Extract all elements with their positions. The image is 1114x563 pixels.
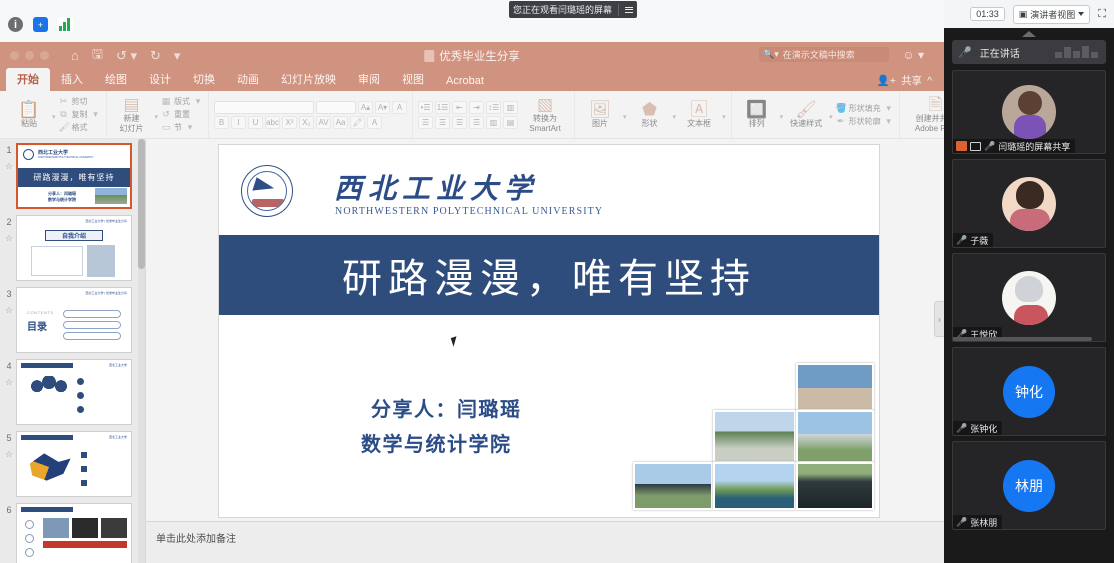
participant-name-bar: 🎤 子薇 [953,233,993,247]
layout-icon: ▦ [161,96,171,107]
section-dropdown-icon[interactable]: ▾ [185,122,195,133]
screen-share-icon [956,141,967,151]
campus-photo-collage [659,363,874,511]
search-input[interactable]: 🔍▾ 在演示文稿中搜索 [759,47,889,62]
format-painter-button[interactable]: 🖌格式 [59,122,101,133]
italic-button[interactable]: I [231,116,246,129]
sharing-tooltip-label: 您正在观看闫璐瑶的屏幕 [513,3,612,16]
slide-title: 研路漫漫，唯有坚持 [342,246,756,304]
participant-name: 子薇 [970,234,988,247]
feedback-icon[interactable]: ☺ ▾ [902,48,924,62]
thumbnail-number: 1 ☆ [2,143,16,172]
view-mode-button[interactable]: ▣ 演讲者视图 [1013,5,1091,24]
screen-sharing-tooltip: 您正在观看闫璐瑶的屏幕 [509,1,637,18]
paragraph-controls: •☰ 1☰ ⇤ ⇥ ↕☰ ▥ ☰ ☰ ☰ ☰ ▥ ▤ [418,101,518,129]
fullscreen-icon[interactable]: ⛶ [1098,8,1106,21]
document-title: 优秀毕业生分享 [439,48,520,64]
justify-button[interactable]: ☰ [469,116,484,129]
strikethrough-button[interactable]: abc [265,116,280,129]
arrange-label: 排列 [749,119,765,128]
current-slide[interactable]: 西北工业大学 NORTHWESTERN POLYTECHNICAL UNIVER… [219,145,879,517]
align-right-button[interactable]: ☰ [452,116,467,129]
screen-root: i + 您正在观看闫璐瑶的屏幕 ⌂ 🖫 ↺ ▾ ↻ ▾ [0,0,1114,563]
share-label: 共享 [901,73,922,88]
avatar-initials: 林朋 [1003,460,1055,512]
outline-icon: ✒ [836,116,846,127]
cut-button[interactable]: ✂剪切 [59,96,101,107]
zoom-panel: 01:33 ▣ 演讲者视图 ⛶ 🎤 正在讲话 🎤 闫璐瑶的屏幕共享 [944,0,1114,563]
picture-icon: 🖼 [589,101,611,119]
panel-resize-handle[interactable] [944,28,1114,40]
convert-to-smartart-button[interactable]: ▧ 转换为 SmartArt [521,96,569,132]
audio-waveform-icon [1055,46,1098,58]
tab-acrobat[interactable]: Acrobat [435,72,495,91]
thumbnail-preview-4[interactable]: 西北工业大学 [16,359,132,425]
participant-name-bar: 🎤 闫璐瑶的屏幕共享 [953,139,1075,153]
section-icon: ▭ [161,122,171,133]
tab-transitions[interactable]: 切换 [182,68,226,91]
participant-name: 闫璐瑶的屏幕共享 [998,140,1070,153]
increase-indent-button[interactable]: ⇥ [469,101,484,114]
layout-dropdown-icon[interactable]: ▾ [193,96,203,107]
font-size-select[interactable] [316,101,356,114]
reset-button[interactable]: ↺重置 [161,109,203,120]
increase-font-size-button[interactable]: A▴ [358,101,373,114]
scissors-icon: ✂ [59,96,69,107]
ribbon-group-clipboard: 📋 粘贴 ▾ ✂剪切 ⧉复制▾ 🖌格式 [4,91,107,138]
bold-button[interactable]: B [214,116,229,129]
participant-tile-2[interactable]: 🎤 子薇 [952,159,1106,248]
new-slide-label-1: 新建 [124,114,140,123]
save-icon[interactable]: 🖫 [92,45,103,67]
character-spacing-button[interactable]: AV [316,116,331,129]
layout-button[interactable]: ▦版式▾ [161,96,203,107]
layout-label: 版式 [174,96,190,107]
shape-button[interactable]: ⬟ 形状 [630,101,670,128]
tab-home[interactable]: 开始 [6,68,50,91]
arrange-button[interactable]: 🔲 排列 [737,101,777,128]
thumbnail-number-label: 2 [6,217,11,227]
text-direction-button[interactable]: ▥ [503,101,518,114]
avatar [1002,271,1056,325]
arrange-icon: 🔲 [746,101,767,119]
thumbnail-number-label: 5 [6,433,11,443]
font-row-2: B I U abc X² X₂ AV Aa 🖍 A [214,116,407,129]
active-speaker-label: 正在讲话 [980,45,1020,60]
thumbnail-number: 6 [2,503,16,515]
active-speaker-bar: 🎤 正在讲话 [952,40,1106,64]
info-icon[interactable]: i [8,17,23,32]
slide-presenter-block: 分享人：闫璐瑶 数学与统计学院 [371,393,522,463]
campus-photo-3 [796,410,874,463]
thumbnail-item-6[interactable]: 6 [0,503,145,563]
clipboard-icon: 📋 [18,101,39,119]
participant-tile-1[interactable]: 🎤 闫璐瑶的屏幕共享 [952,70,1106,154]
menu-icon[interactable] [625,7,633,13]
smartart-label-1: 转换为 [533,114,557,123]
shape-outline-dropdown-icon[interactable]: ▾ [884,116,894,127]
slide-stage: 西北工业大学 NORTHWESTERN POLYTECHNICAL UNIVER… [146,139,944,563]
chevron-down-icon [1078,12,1084,16]
tab-insert[interactable]: 插入 [50,68,94,91]
notes-placeholder: 单击此处添加备注 [156,534,236,545]
redo-icon[interactable]: ↻ [150,48,161,64]
decrease-indent-button[interactable]: ⇤ [452,101,467,114]
ribbon-group-font: A▴ A▾ A B I U abc X² X₂ AV Aa 🖍 A [209,91,413,138]
window-controls[interactable] [10,51,49,60]
section-button[interactable]: ▭节▾ [161,122,203,133]
quick-styles-label: 快速样式 [790,119,822,128]
paragraph-row-2: ☰ ☰ ☰ ☰ ▥ ▤ [418,116,518,129]
paste-dropdown-icon[interactable]: ▾ [52,113,56,121]
university-logo-icon [241,165,293,217]
participant-name-bar: 🎤 张林朋 [953,515,1002,529]
tab-animations[interactable]: 动画 [226,68,270,91]
quick-styles-button[interactable]: 🖌 快速样式 [786,101,826,128]
arrange-dropdown-icon[interactable]: ▾ [780,113,784,121]
tab-review[interactable]: 审阅 [347,68,391,91]
shape-dropdown-icon[interactable]: ▾ [673,113,677,121]
textbox-icon: 🄰 [691,101,708,119]
star-icon: ☆ [2,305,16,316]
textbox-label: 文本框 [687,119,711,128]
shape-fill-label: 形状填充 [849,103,881,114]
columns-button[interactable]: ▥ [486,116,501,129]
presenter-department: 数学与统计学院 [361,428,522,463]
mic-muted-icon: 🎤 [956,517,967,528]
font-family-select[interactable] [214,101,314,114]
tab-draw[interactable]: 绘图 [94,68,138,91]
new-slide-dropdown-icon[interactable]: ▾ [155,113,159,121]
home-icon[interactable]: ⌂ [71,48,79,63]
quick-styles-dropdown-icon[interactable]: ▾ [829,113,833,121]
thumbnail-item-5[interactable]: 5 ☆ 西北工业大学 [0,431,145,497]
ribbon: 📋 粘贴 ▾ ✂剪切 ⧉复制▾ 🖌格式 ▤ 新建 幻灯片 ▾ ▦版 [0,91,944,139]
share-icon: 👤+ [877,74,896,87]
reset-label: 重置 [174,109,190,120]
slide-thumbnail-panel[interactable]: 1 ☆ 西北工业大学 NORTHWESTERN POLYTECHNICAL UN… [0,139,146,563]
close-button[interactable] [10,51,19,60]
pdf-icon: 🗎 [929,96,943,114]
align-center-button[interactable]: ☰ [435,116,450,129]
new-slide-icon: ▤ [123,96,139,114]
change-case-button[interactable]: Aa [333,116,348,129]
star-icon: ☆ [2,449,16,460]
brush-icon: 🖌 [59,122,69,133]
ribbon-group-slides: ▤ 新建 幻灯片 ▾ ▦版式▾ ↺重置 ▭节▾ [107,91,210,138]
clipboard-small-commands: ✂剪切 ⧉复制▾ 🖌格式 [59,96,101,133]
shape-format-commands: 🪣形状填充▾ ✒形状轮廓▾ [836,103,894,127]
participant-tile-3[interactable]: 🎤 王悦欣 [952,253,1106,342]
mic-muted-icon: 🎤 [956,235,967,246]
presenter-name: 分享人：闫璐瑶 [371,393,522,428]
superscript-button[interactable]: X² [282,116,297,129]
slides-small-commands: ▦版式▾ ↺重置 ▭节▾ [161,96,203,133]
view-mode-icon: ▣ [1019,9,1028,20]
shape-fill-button[interactable]: 🪣形状填充▾ [836,103,894,114]
share-button[interactable]: 👤+ 共享 ^ [877,73,932,88]
textbox-dropdown-icon[interactable]: ▾ [722,113,726,121]
participant-name-bar: 🎤 张钟化 [953,421,1002,435]
campus-photo-2 [713,410,796,463]
ribbon-tabs[interactable]: 开始 插入 绘图 设计 切换 动画 幻灯片放映 审阅 视图 Acrobat 👤+… [0,69,944,91]
shape-outline-button[interactable]: ✒形状轮廓▾ [836,116,894,127]
avatar [1002,85,1056,139]
reset-icon: ↺ [161,109,171,120]
thumbnail-item-1[interactable]: 1 ☆ 西北工业大学 NORTHWESTERN POLYTECHNICAL UN… [0,143,145,209]
text-highlight-button[interactable]: 🖍 [350,116,365,129]
university-name-en: NORTHWESTERN POLYTECHNICAL UNIVERSITY [335,206,603,217]
thumbnail-item-4[interactable]: 4 ☆ 西北工业大学 [0,359,145,425]
thumbnail-number-label: 3 [6,289,11,299]
font-row-1: A▴ A▾ A [214,101,407,114]
powerpoint-window: ⌂ 🖫 ↺ ▾ ↻ ▾ 优秀毕业生分享 🔍▾ 在演示文稿中搜索 ☺ ▾ 开始 插… [0,42,944,563]
star-icon: ☆ [2,377,16,388]
avatar-initials: 钟化 [1003,366,1055,418]
copy-icon: ⧉ [59,109,69,120]
ribbon-group-drawing: 🔲 排列 ▾ 🖌 快速样式 ▾ 🪣形状填充▾ ✒形状轮廓▾ [732,91,900,138]
search-icon: 🔍▾ [763,49,779,60]
document-icon [424,50,434,62]
view-mode-label: 演讲者视图 [1030,8,1075,21]
bullets-button[interactable]: •☰ [418,101,433,114]
thumbnail-scrollbar-track[interactable] [138,139,145,563]
participant-tile-4[interactable]: 钟化 🎤 张钟化 [952,347,1106,436]
extension-icon-group: i + [8,17,73,32]
ribbon-group-insert: 🖼 图片 ▾ ⬟ 形状 ▾ 🄰 文本框 ▾ [575,91,732,138]
thumbnail-preview-1[interactable]: 西北工业大学 NORTHWESTERN POLYTECHNICAL UNIVER… [16,143,132,209]
decrease-font-size-button[interactable]: A▾ [375,101,390,114]
star-icon: ☆ [2,161,16,172]
tooltip-divider [618,4,619,16]
browser-top-strip: i + 您正在观看闫璐瑶的屏幕 [0,0,944,42]
picture-button[interactable]: 🖼 图片 [580,101,620,128]
copy-dropdown-icon[interactable]: ▾ [91,109,101,120]
thumbnail-number-label: 4 [6,361,11,371]
slide-title-banner: 研路漫漫，唯有坚持 [219,235,879,315]
textbox-button[interactable]: 🄰 文本框 [679,101,719,128]
new-slide-label-2: 幻灯片 [120,124,144,133]
avatar [1002,177,1056,231]
font-color-button[interactable]: A [367,116,382,129]
powerpoint-titlebar: ⌂ 🖫 ↺ ▾ ↻ ▾ 优秀毕业生分享 🔍▾ 在演示文稿中搜索 ☺ ▾ [0,42,944,69]
bars-icon[interactable] [58,17,73,32]
slide-header: 西北工业大学 NORTHWESTERN POLYTECHNICAL UNIVER… [219,145,879,230]
smartart-icon: ▧ [537,96,553,114]
campus-photo-1 [796,363,874,411]
shape-fill-dropdown-icon[interactable]: ▾ [884,103,894,114]
thumbnail-scrollbar-thumb[interactable] [138,139,145,269]
campus-photo-6 [796,462,874,510]
campus-photo-4 [633,462,713,510]
search-placeholder: 在演示文稿中搜索 [783,48,855,61]
copy-button[interactable]: ⧉复制▾ [59,109,101,120]
line-spacing-button[interactable]: ↕☰ [486,101,501,114]
thumbnail-item-2[interactable]: 2 ☆ 西北工业大学 | 优秀毕业生分享 自我介绍 [0,215,145,281]
copy-label: 复制 [72,109,88,120]
tab-view[interactable]: 视图 [391,68,435,91]
document-title-group: 优秀毕业生分享 [424,48,520,64]
shape-outline-label: 形状轮廓 [849,116,881,127]
collapse-ribbon-icon[interactable]: ^ [927,75,932,87]
mic-muted-icon: 🎤 [958,46,972,59]
thumbnail-preview-3[interactable]: 西北工业大学 | 优秀毕业生分享 CONTENTS 目录 [16,287,132,353]
chevron-up-icon [1022,31,1036,37]
fill-icon: 🪣 [836,103,846,114]
quick-access-toolbar[interactable]: ⌂ 🖫 ↺ ▾ ↻ ▾ [71,45,180,67]
format-label: 格式 [72,122,88,133]
tab-slideshow[interactable]: 幻灯片放映 [270,68,347,91]
thumbnail-number: 5 ☆ [2,431,16,460]
picture-dropdown-icon[interactable]: ▾ [623,113,627,121]
thumbnail-number: 3 ☆ [2,287,16,316]
panel-collapse-handle[interactable]: › [934,301,944,337]
shapes-icon: ⬟ [642,101,657,119]
powerpoint-body: 1 ☆ 西北工业大学 NORTHWESTERN POLYTECHNICAL UN… [0,139,944,563]
paragraph-row-1: •☰ 1☰ ⇤ ⇥ ↕☰ ▥ [418,101,518,114]
participant-name: 张林朋 [970,516,997,529]
thumbnail-number: 2 ☆ [2,215,16,244]
thumbnail-item-3[interactable]: 3 ☆ 西北工业大学 | 优秀毕业生分享 CONTENTS 目录 [0,287,145,353]
smartart-label-2: SmartArt [529,124,561,133]
paste-label: 粘贴 [21,119,37,128]
zoom-toolbar: 01:33 ▣ 演讲者视图 ⛶ [944,0,1114,28]
tile-scrollbar[interactable] [952,337,1104,341]
thumbnail-number-label: 6 [6,505,11,515]
thumbnail-preview-2[interactable]: 西北工业大学 | 优秀毕业生分享 自我介绍 [16,215,132,281]
shield-icon[interactable]: + [33,17,48,32]
thumbnail-number-label: 1 [6,145,11,155]
thumbnail-preview-5[interactable]: 西北工业大学 [16,431,132,497]
thumbnail-preview-6[interactable] [16,503,132,563]
underline-button[interactable]: U [248,116,263,129]
star-icon: ☆ [2,233,16,244]
participant-tile-5[interactable]: 林朋 🎤 张林朋 [952,441,1106,530]
mic-muted-icon: 🎤 [956,423,967,434]
cut-label: 剪切 [72,96,88,107]
new-slide-button[interactable]: ▤ 新建 幻灯片 [112,96,152,132]
minimize-button[interactable] [25,51,34,60]
picture-label: 图片 [592,119,608,128]
university-name-cn: 西北工业大学 [334,167,538,207]
undo-icon[interactable]: ↺ ▾ [116,48,137,64]
subscript-button[interactable]: X₂ [299,116,314,129]
maximize-button[interactable] [40,51,49,60]
numbering-button[interactable]: 1☰ [435,101,450,114]
paste-button[interactable]: 📋 粘贴 [9,101,49,128]
quick-styles-icon: 🖌 [795,101,817,119]
campus-photo-5 [713,462,796,510]
more-icon[interactable]: ▾ [174,48,181,64]
clear-formatting-button[interactable]: A [392,101,407,114]
thumbnail-number: 4 ☆ [2,359,16,388]
section-label: 节 [174,122,182,133]
mic-muted-icon: 🎤 [984,141,995,152]
participant-name: 张钟化 [970,422,997,435]
video-icon [970,142,981,151]
tab-design[interactable]: 设计 [138,68,182,91]
meeting-timer: 01:33 [970,7,1005,21]
align-left-button[interactable]: ☰ [418,116,433,129]
notes-pane[interactable]: 单击此处添加备注 [146,521,944,563]
align-text-button[interactable]: ▤ [503,116,518,129]
ribbon-group-paragraph: •☰ 1☰ ⇤ ⇥ ↕☰ ▥ ☰ ☰ ☰ ☰ ▥ ▤ [413,91,575,138]
mouse-cursor [451,336,459,346]
font-controls: A▴ A▾ A B I U abc X² X₂ AV Aa 🖍 A [214,101,407,129]
shape-label: 形状 [642,119,658,128]
